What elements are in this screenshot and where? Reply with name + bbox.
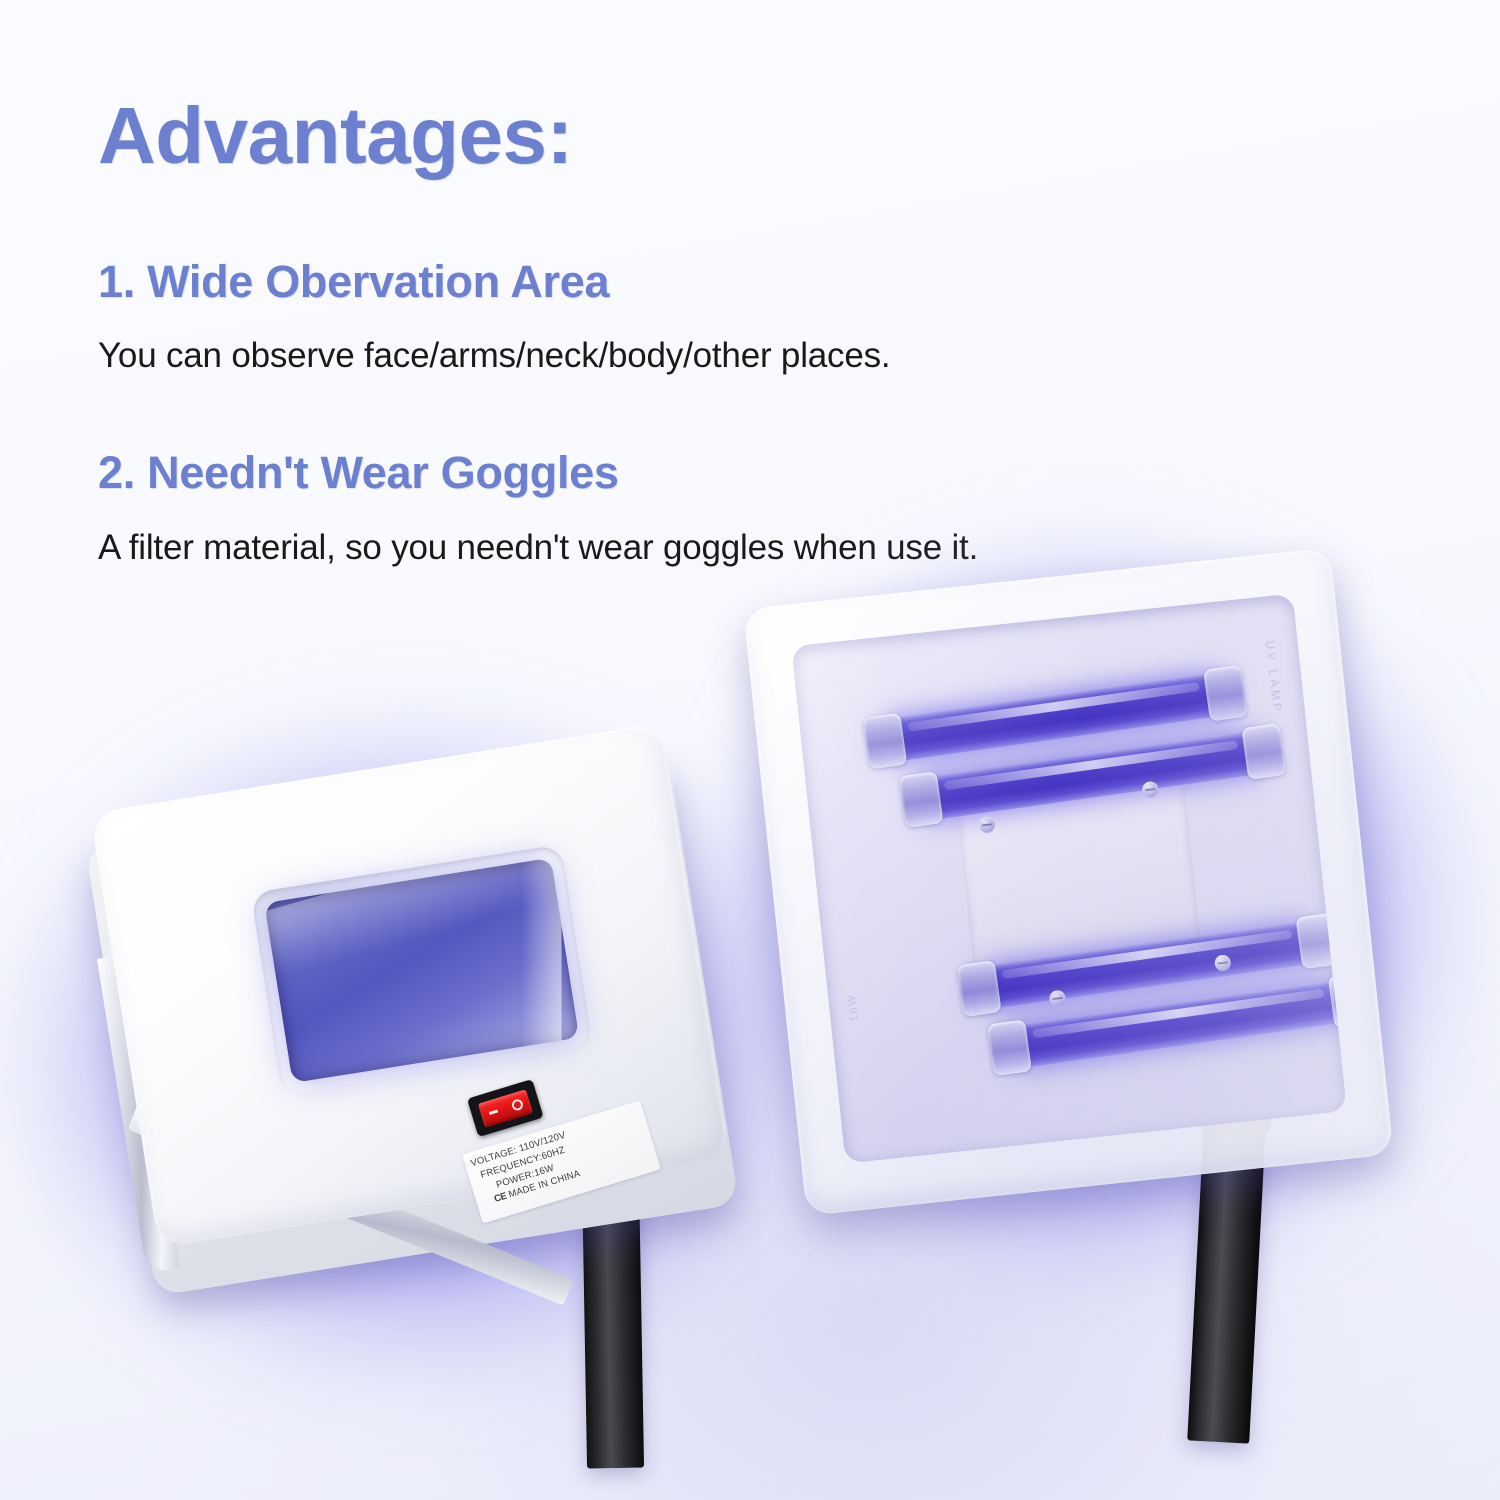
window-reflection-streak bbox=[522, 858, 562, 1075]
center-reflector-panel bbox=[955, 766, 1203, 994]
housing-screw-icon-4 bbox=[1214, 954, 1232, 972]
spec-origin-row: CE MADE IN CHINA bbox=[481, 1146, 651, 1210]
spec-label: VOLTAGE: 110V/120V FREQUENCY:60HZ POWER:… bbox=[462, 1100, 661, 1223]
uv-tube-3-cap-right bbox=[1295, 913, 1340, 970]
uv-tube-1-cap-right bbox=[1203, 665, 1248, 722]
ce-mark-icon: CE bbox=[493, 1191, 508, 1205]
text-content-block: Advantages: 1. Wide Obervation Area You … bbox=[98, 96, 1278, 641]
uv-lamp-front-view: VOLTAGE: 110V/120V FREQUENCY:60HZ POWER:… bbox=[73, 716, 742, 1294]
housing-screw-icon-1 bbox=[978, 816, 996, 834]
uv-tube-3-cap-left bbox=[957, 960, 1002, 1017]
spec-power: POWER:16W bbox=[477, 1133, 647, 1197]
uv-lamp-tube-view: UV LAMP 16W bbox=[743, 546, 1409, 1265]
uv-tube-4-cap-left bbox=[987, 1019, 1032, 1076]
spec-voltage: VOLTAGE: 110V/120V bbox=[469, 1107, 639, 1171]
page-title: Advantages: bbox=[98, 96, 1278, 176]
uv-glow-halo-left bbox=[40, 740, 780, 1360]
uv-glow-halo-right bbox=[740, 560, 1440, 1260]
uv-tube-4-cap-right bbox=[1328, 971, 1347, 1028]
window-bevel bbox=[251, 844, 593, 1097]
housing-emboss-text-2: 16W bbox=[846, 993, 861, 1023]
power-rocker-switch[interactable] bbox=[467, 1079, 544, 1137]
lamp-top-face-left: VOLTAGE: 110V/120V FREQUENCY:60HZ POWER:… bbox=[90, 723, 730, 1248]
uv-tube-3 bbox=[973, 919, 1324, 1011]
advantage-2-heading: 2. Needn't Wear Goggles bbox=[98, 449, 1278, 496]
rocker-face[interactable] bbox=[478, 1089, 533, 1128]
uv-tube-2 bbox=[915, 729, 1270, 822]
lamp-handle-right bbox=[1187, 1111, 1266, 1444]
housing-screw-icon-2 bbox=[1141, 781, 1159, 799]
housing-screw-icon-3 bbox=[1049, 990, 1067, 1008]
lamp-tube-cavity: UV LAMP 16W bbox=[791, 594, 1347, 1164]
uv-tube-2-cap-left bbox=[899, 771, 944, 828]
spec-origin: MADE IN CHINA bbox=[507, 1169, 581, 1201]
infographic-page: Advantages: 1. Wide Obervation Area You … bbox=[0, 0, 1500, 1500]
lamp-clear-housing bbox=[743, 547, 1394, 1215]
advantage-item-2: 2. Needn't Wear Goggles A filter materia… bbox=[98, 449, 1278, 568]
advantage-1-heading: 1. Wide Obervation Area bbox=[98, 258, 1278, 305]
uv-tube-4 bbox=[1004, 978, 1347, 1070]
advantage-1-body: You can observe face/arms/neck/body/othe… bbox=[98, 335, 1278, 377]
lamp-body-base-left bbox=[85, 754, 739, 1296]
uv-tube-2-cap-right bbox=[1241, 723, 1286, 780]
uv-tube-1 bbox=[879, 671, 1232, 763]
spec-frequency: FREQUENCY:60HZ bbox=[473, 1120, 643, 1184]
switch-off-marking-icon bbox=[510, 1098, 524, 1112]
switch-on-marking-icon bbox=[488, 1109, 497, 1115]
handle-collar-left bbox=[578, 1132, 641, 1155]
uv-tube-1-cap-left bbox=[862, 713, 907, 770]
housing-emboss-text: UV LAMP bbox=[1263, 640, 1285, 715]
lamp-chrome-rim-left bbox=[97, 952, 180, 1276]
observation-window bbox=[264, 858, 579, 1083]
advantage-item-1: 1. Wide Obervation Area You can observe … bbox=[98, 258, 1278, 377]
handle-collar-right bbox=[1198, 1101, 1271, 1135]
housing-glass-sheen bbox=[743, 547, 1394, 1215]
lamp-handle-left bbox=[581, 1138, 644, 1469]
advantage-2-body: A filter material, so you needn't wear g… bbox=[98, 527, 1278, 569]
lamp-chrome-rim-bottom-left bbox=[128, 1103, 574, 1305]
